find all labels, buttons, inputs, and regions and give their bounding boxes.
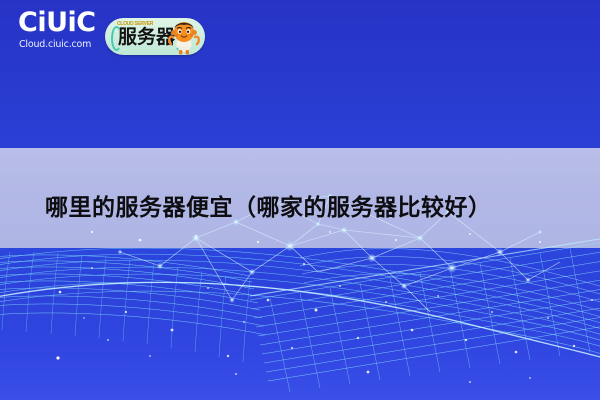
logo-domain: Cloud.ciuic.com — [19, 39, 104, 51]
orange-cartoon-mascot-icon — [167, 19, 201, 55]
article-cover-banner: CiUiC Cloud.ciuic.com CLOUD SERVER 服务器 — [0, 0, 600, 400]
logo-wordmark: CiUiC — [18, 8, 104, 38]
band-sparkles — [91, 231, 541, 243]
ciuic-cloud-logo[interactable]: CiUiC Cloud.ciuic.com — [18, 8, 104, 51]
server-badge: CLOUD SERVER 服务器 — [105, 18, 205, 55]
page-title: 哪里的服务器便宜（哪家的服务器比较好） — [45, 193, 565, 223]
particle-dots — [56, 263, 593, 383]
